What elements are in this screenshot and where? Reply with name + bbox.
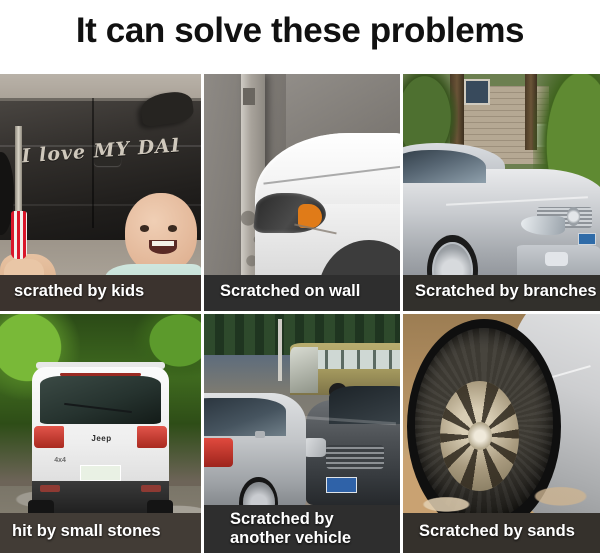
p1-girl-teeth — [152, 241, 174, 246]
panel-scratched-by-another-vehicle[interactable]: Scratched by another vehicle — [201, 311, 400, 553]
caption-scratched-by-kids: scrathed by kids — [0, 275, 201, 311]
p5-silver-hatchback-glass — [204, 398, 286, 436]
p1-girl-eye-left — [140, 225, 149, 231]
p5-silver-tail-light — [204, 438, 233, 467]
p3-vw-badge — [567, 207, 581, 226]
caption-scratched-by-branches: Scratched by branches — [403, 275, 600, 311]
p4-rear-window — [40, 376, 161, 424]
panel-scratched-by-branches[interactable]: Scratched by branches — [400, 74, 600, 311]
p5-bus-front — [290, 347, 317, 392]
p3-fog-lamp — [545, 252, 569, 266]
p5-dark-sedan-plate — [326, 477, 357, 494]
problem-grid: I love MY DAD scrathed by kids — [0, 74, 600, 553]
page-title: It can solve these problems — [0, 2, 600, 64]
p4-license-plate — [80, 465, 120, 482]
caption-hit-by-small-stones: hit by small stones — [0, 513, 201, 553]
p4-reflector-right — [141, 485, 161, 492]
p4-trim-badge: 4x4 — [54, 457, 78, 467]
p4-reflector-left — [40, 485, 60, 492]
caption-scratched-by-sands: Scratched by sands — [403, 513, 600, 553]
panel-scratched-by-sands[interactable]: Scratched by sands — [400, 311, 600, 553]
caption-scratched-by-another-vehicle: Scratched by another vehicle — [204, 505, 400, 553]
p1-girl-face — [125, 193, 197, 274]
p4-tail-light-right — [137, 426, 167, 448]
p3-building-window — [464, 79, 490, 105]
p1-girl-eye-right — [168, 225, 177, 231]
panel-scratched-by-kids[interactable]: I love MY DAD scrathed by kids — [0, 74, 201, 311]
p3-license-plate — [578, 233, 596, 245]
p5-light-pole — [278, 319, 281, 381]
poster-root: It can solve these problems I love MY DA… — [0, 0, 600, 553]
p2-pillar-recess — [243, 88, 255, 105]
p3-windshield — [403, 150, 486, 183]
p5-silver-door-handle — [255, 431, 265, 438]
p5-dark-sedan-grille — [326, 445, 385, 469]
panel-hit-by-small-stones[interactable]: Jeep 4x4 hit by small stones — [0, 311, 201, 553]
caption-scratched-on-wall: Scratched on wall — [204, 275, 400, 311]
p4-tail-light-left — [34, 426, 64, 448]
p1-screwdriver-handle — [11, 211, 27, 258]
p6-wheel-hub — [468, 422, 492, 451]
panel-scratched-on-wall[interactable]: Scratched on wall — [201, 74, 400, 311]
p4-jeep-badge: Jeep — [86, 434, 116, 446]
